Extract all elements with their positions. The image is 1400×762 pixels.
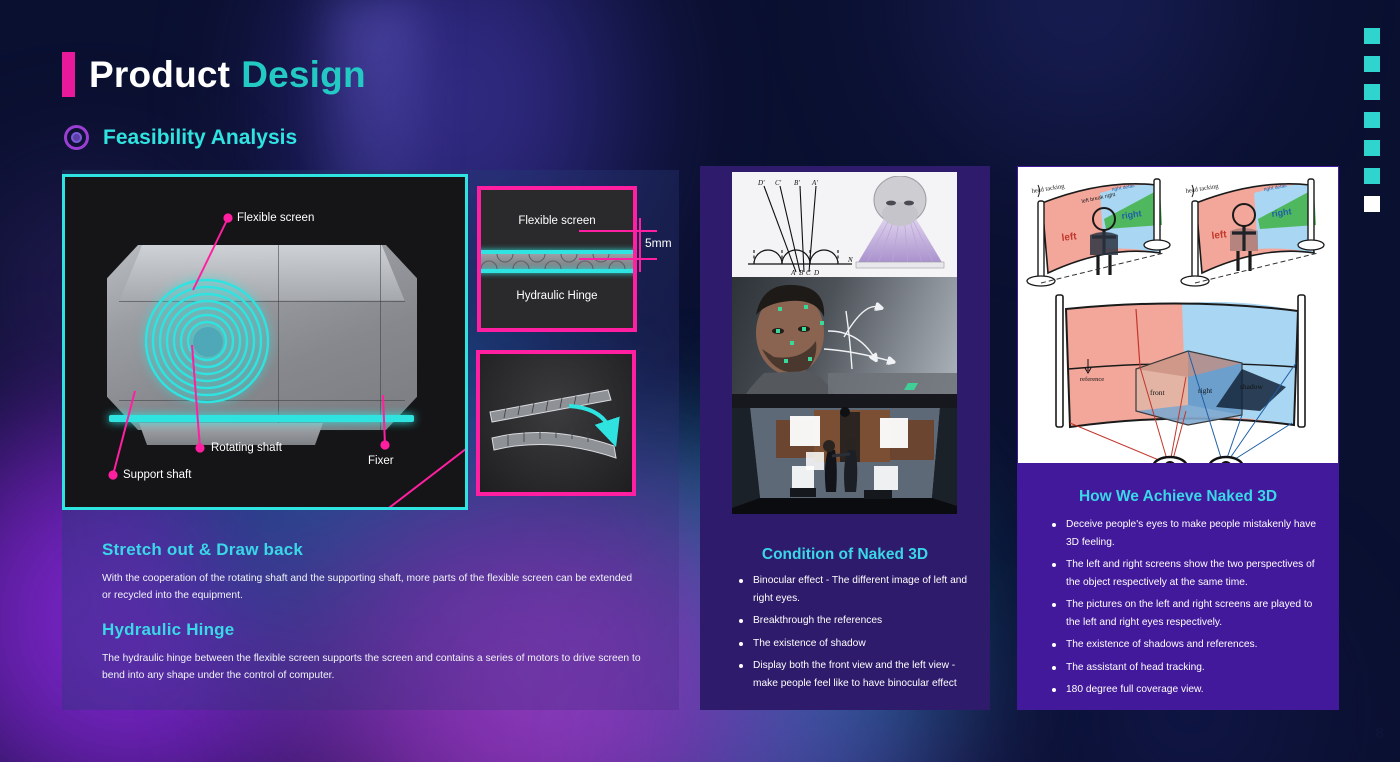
nav-dot-4[interactable] (1364, 112, 1380, 128)
right-panel-bullets: Deceive people's eyes to make people mis… (1049, 516, 1321, 704)
list-item: The existence of shadow (736, 635, 974, 653)
svg-text:C': C' (775, 179, 782, 187)
title-accent-bar (62, 52, 75, 97)
list-item: Display both the front view and the left… (736, 657, 974, 692)
page-number: 8 (1376, 725, 1384, 742)
label-flexible-screen: Flexible screen (237, 212, 314, 224)
list-item: Deceive people's eyes to make people mis… (1049, 516, 1321, 551)
right-content-panel: head tacking right detail left break rig… (1017, 166, 1339, 710)
label-rotating-shaft: Rotating shaft (211, 442, 282, 454)
right-panel-heading: How We Achieve Naked 3D (1017, 488, 1339, 506)
dim-line-top (579, 230, 657, 232)
section-hydraulic-hinge: Hydraulic Hinge The hydraulic hinge betw… (102, 620, 647, 685)
middle-content-panel: D'C' B'A' AB CD N (700, 166, 990, 710)
section-body-2: The hydraulic hinge between the flexible… (102, 651, 647, 685)
svg-text:C: C (806, 269, 811, 276)
head-viewing-cone-graphic (850, 176, 950, 274)
svg-text:reference: reference (1080, 376, 1104, 383)
svg-text:D: D (813, 269, 819, 276)
callout-lines (65, 177, 468, 510)
section-heading-1: Stretch out & Draw back (102, 540, 642, 560)
list-item: 180 degree full coverage view. (1049, 681, 1321, 699)
section-body-1: With the cooperation of the rotating sha… (102, 571, 642, 605)
subtitle-text: Feasibility Analysis (103, 126, 297, 150)
list-item: The assistant of head tracking. (1049, 659, 1321, 677)
label-support-shaft: Support shaft (123, 469, 191, 481)
svg-text:left: left (1061, 231, 1078, 244)
nav-dot-2[interactable] (1364, 56, 1380, 72)
svg-text:A: A (790, 269, 796, 276)
sketch-graphic: head tacking right detail left break rig… (1018, 167, 1338, 463)
slide-navigation-dots[interactable] (1364, 28, 1380, 212)
optical-ray-diagram-image: D'C' B'A' AB CD N (732, 172, 957, 277)
stage-lighting-image (732, 394, 957, 514)
svg-text:left: left (1211, 229, 1228, 242)
middle-panel-heading: Condition of Naked 3D (700, 546, 990, 564)
naked3d-sketch-image: head tacking right detail left break rig… (1018, 167, 1338, 463)
title-primary: Product (89, 54, 230, 95)
hinge-bend-inset (476, 350, 636, 496)
middle-panel-bullets: Binocular effect - The different image o… (736, 572, 974, 697)
target-circle-icon (64, 125, 89, 150)
svg-text:shadow: shadow (1240, 382, 1263, 391)
nav-dot-1[interactable] (1364, 28, 1380, 44)
dim-line-vertical (639, 218, 641, 272)
inset-label-flexible-screen: Flexible screen (481, 215, 633, 227)
section-stretch-draw: Stretch out & Draw back With the coopera… (102, 540, 642, 605)
svg-text:front: front (1150, 388, 1165, 397)
dim-line-bottom (579, 258, 657, 260)
list-item: The existence of shadows and references. (1049, 636, 1321, 654)
nav-dot-5[interactable] (1364, 140, 1380, 156)
subtitle-row: Feasibility Analysis (64, 125, 366, 150)
nav-dot-6[interactable] (1364, 168, 1380, 184)
list-item: The pictures on the left and right scree… (1049, 596, 1321, 631)
title-text: ProductDesign (89, 54, 366, 96)
svg-text:B': B' (794, 179, 800, 187)
svg-text:B: B (799, 269, 804, 276)
svg-text:D': D' (757, 179, 765, 187)
svg-text:right: right (1198, 386, 1213, 395)
left-content-panel: Flexible screen Rotating shaft Support s… (62, 170, 679, 710)
inset-label-hydraulic-hinge: Hydraulic Hinge (481, 290, 633, 302)
title-secondary: Design (241, 54, 366, 95)
dimension-label-5mm: 5mm (645, 236, 672, 250)
svg-text:head tacking: head tacking (1185, 183, 1219, 195)
nav-dot-7-active[interactable] (1364, 196, 1380, 212)
list-item: Binocular effect - The different image o… (736, 572, 974, 607)
face-tracking-image (732, 277, 957, 394)
nav-dot-3[interactable] (1364, 84, 1380, 100)
svg-text:A': A' (811, 179, 818, 187)
section-heading-2: Hydraulic Hinge (102, 620, 647, 640)
product-diagram: Flexible screen Rotating shaft Support s… (62, 174, 468, 510)
slide-header: ProductDesign Feasibility Analysis (62, 52, 366, 150)
label-fixer: Fixer (368, 455, 394, 467)
list-item: Breakthrough the references (736, 612, 974, 630)
bend-arrow-icon (565, 402, 627, 452)
list-item: The left and right screens show the two … (1049, 556, 1321, 591)
svg-text:head tacking: head tacking (1031, 183, 1065, 195)
page-title: ProductDesign (62, 52, 366, 97)
